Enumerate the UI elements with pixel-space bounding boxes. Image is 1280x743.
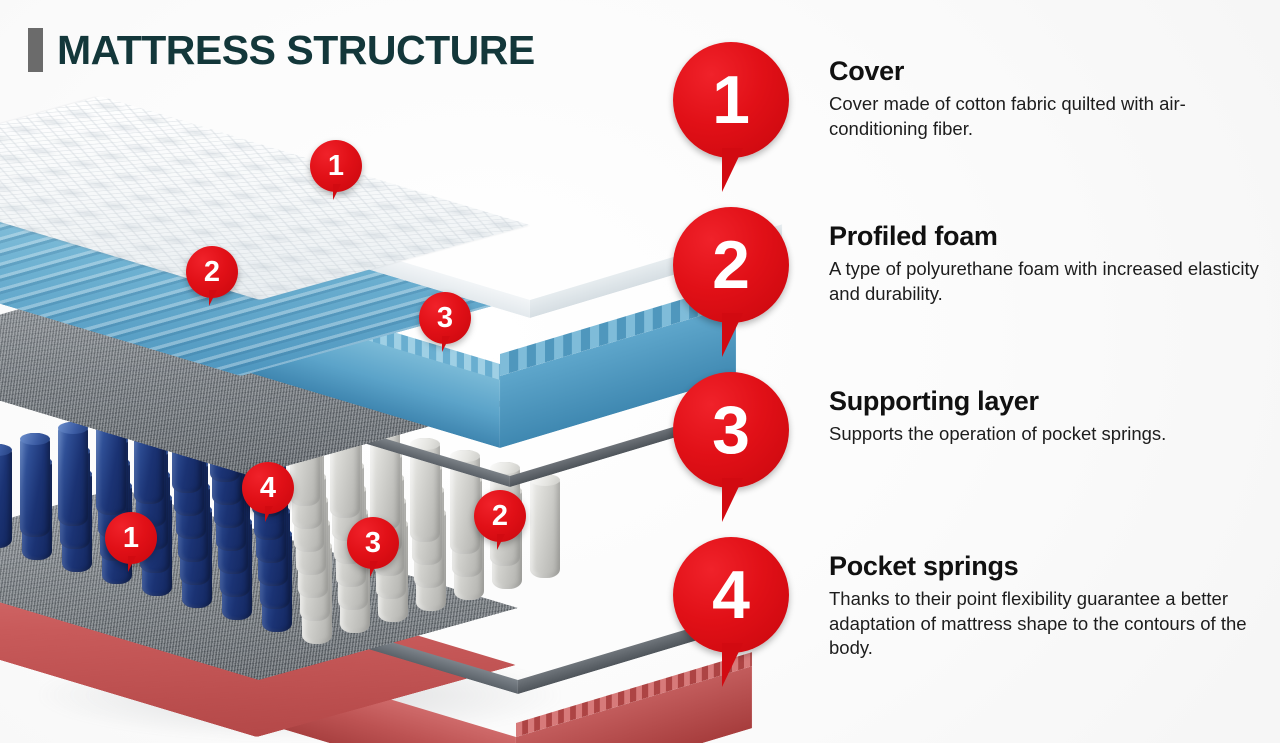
- legend-text-block: CoverCover made of cotton fabric quilted…: [829, 42, 1259, 141]
- illustration-pin-marker[interactable]: 2: [474, 490, 526, 542]
- illustration-pin-marker[interactable]: 3: [419, 292, 471, 344]
- illustration-pin-marker[interactable]: 1: [310, 140, 362, 192]
- illustration-pin-number: 2: [204, 258, 220, 287]
- legend-item-title: Supporting layer: [829, 386, 1166, 416]
- illustration-pin-number: 3: [365, 529, 381, 558]
- legend-text-block: Pocket springsThanks to their point flex…: [829, 537, 1259, 661]
- mattress-exploded-illustration: 1234132: [0, 90, 660, 710]
- cover-top-face: [0, 96, 530, 300]
- legend-item-description: A type of polyurethane foam with increas…: [829, 257, 1259, 306]
- infographic-page: MATTRESS STRUCTURE: [0, 0, 1280, 743]
- legend-item-description: Cover made of cotton fabric quilted with…: [829, 92, 1259, 141]
- legend-item-title: Pocket springs: [829, 551, 1259, 581]
- legend-pin-marker[interactable]: 3: [673, 372, 789, 488]
- title-accent-bar: [28, 28, 43, 72]
- illustration-pin-marker[interactable]: 2: [186, 246, 238, 298]
- page-title: MATTRESS STRUCTURE: [57, 30, 535, 71]
- legend-pin-marker[interactable]: 4: [673, 537, 789, 653]
- legend-item-title: Cover: [829, 56, 1259, 86]
- legend-item[interactable]: 4Pocket springsThanks to their point fle…: [665, 537, 1265, 702]
- illustration-pin-number: 2: [492, 502, 508, 531]
- legend-item[interactable]: 2Profiled foamA type of polyurethane foa…: [665, 207, 1265, 372]
- illustration-pin-marker[interactable]: 1: [105, 512, 157, 564]
- legend-item-description: Supports the operation of pocket springs…: [829, 422, 1166, 447]
- legend-list: 1CoverCover made of cotton fabric quilte…: [665, 42, 1265, 702]
- illustration-pin-number: 4: [260, 474, 276, 503]
- illustration-pin-marker[interactable]: 4: [242, 462, 294, 514]
- legend-pin-number: 4: [712, 561, 750, 629]
- illustration-pin-number: 3: [437, 304, 453, 333]
- legend-pin-number: 2: [712, 231, 750, 299]
- pocket-spring-blue: [0, 444, 12, 548]
- legend-pin-marker[interactable]: 2: [673, 207, 789, 323]
- legend-text-block: Supporting layerSupports the operation o…: [829, 372, 1166, 447]
- legend-pin-number: 1: [712, 66, 750, 134]
- legend-item[interactable]: 3Supporting layerSupports the operation …: [665, 372, 1265, 537]
- illustration-pin-number: 1: [123, 524, 139, 553]
- legend-text-block: Profiled foamA type of polyurethane foam…: [829, 207, 1259, 306]
- illustration-pin-marker[interactable]: 3: [347, 517, 399, 569]
- illustration-pin-number: 1: [328, 152, 344, 181]
- legend-pin-number: 3: [712, 396, 750, 464]
- legend-item[interactable]: 1CoverCover made of cotton fabric quilte…: [665, 42, 1265, 207]
- legend-item-title: Profiled foam: [829, 221, 1259, 251]
- legend-item-description: Thanks to their point flexibility guaran…: [829, 587, 1259, 661]
- legend-pin-marker[interactable]: 1: [673, 42, 789, 158]
- page-title-block: MATTRESS STRUCTURE: [28, 28, 535, 72]
